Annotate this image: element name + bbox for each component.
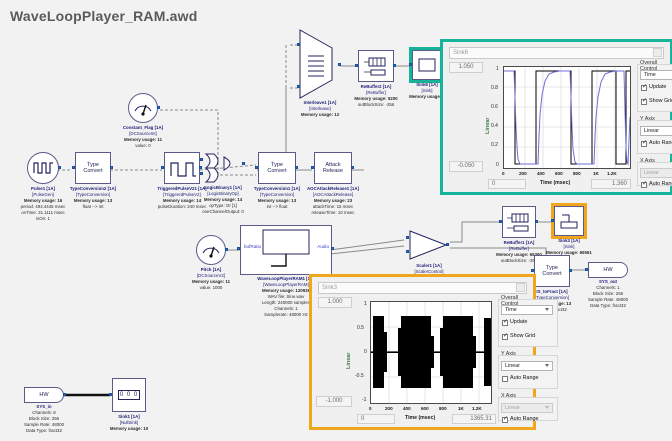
scope-sink3-y-axis-select[interactable]: Linear [501,361,553,371]
sys-out-l3: Sample Rate: 48000 [588,297,628,303]
pitch-out-port[interactable] [225,248,228,251]
type-conversion2-type: [TypeConversion] [70,192,116,198]
waveloopplayer-out-port-label: Audio [317,244,329,249]
scope-sink3-resize-grip[interactable] [516,283,525,292]
sys-in-shape: HW [24,387,64,403]
scope-sink6-y-axis-title: Y Axis [640,116,655,122]
rebuffer2-caption: ReBuffer2 [1A] [ReBuffer] Memory usage: … [354,84,397,108]
check-icon: ✓ [503,319,508,325]
logic-binary1-memory: Memory usage: 14 [202,197,244,203]
constant-flag-out-port[interactable] [157,106,160,109]
rebuffer-icon [504,208,536,238]
block-sink6[interactable]: Sink6 [1A] [Sink] Memory usage: 5 [412,50,442,80]
gauge-icon [197,236,225,264]
type-conversion2-l1: float --> int [70,204,116,210]
type-conversion1-memory: Memory usage: 13 [254,198,300,204]
type-conversion2-out-port[interactable] [110,166,113,169]
scope-sink6-xlabel: Time (msec) [540,180,570,186]
scope-sink6-ytick-5: 0 [496,162,499,168]
pitch-type: [DCSourceV2] [192,273,230,279]
chevron-down-icon [545,364,549,367]
rebuffer2-out-port[interactable] [393,64,396,67]
pulse1-l1: period: 494.4445 msec [21,204,66,210]
scope-sink3-y-auto-range-label: Auto Range [510,375,538,381]
check-icon: ✓ [642,181,647,187]
logic-binary1-l2: oneChannelOutput: 0 [202,209,244,215]
sink1-shape-label: 0 0 0 [118,390,140,400]
scope-sink6-xtick-6: 1.2K [607,171,617,176]
scope-sink3-xtick-0: 0 [369,406,372,411]
interleave1-caption: Interleave1 [1A] [Interleave] Memory usa… [301,100,339,118]
sink6-shape [412,50,442,80]
triggered-pulse-caption: TriggeredPulseV21 [1A] [TriggeredPulseV2… [157,186,206,210]
pulse-waveform-icon [28,153,58,183]
triggered-pulse-shape [164,152,200,184]
block-sys-out[interactable]: HW SYS_out Channels: 1 Block Size: 256 S… [588,262,628,278]
rebuffer2-in-port[interactable] [355,64,358,67]
type-conversion1-caption: TypeConversion1 [1A] [TypeConversion] Me… [254,186,300,210]
interleave1-in2-port[interactable] [297,85,300,88]
pitch-l1: value: 1000 [192,285,230,291]
scope-sink3-overall-control-value: Time [505,307,517,313]
block-scaler1[interactable]: Scaler1 [1A] [ScalerControl] Memory usag… [406,228,452,262]
logic-binary1-in1-port[interactable] [200,158,203,161]
rebuffer1-out-port[interactable] [535,220,538,223]
scope-sink3-title: Sink3 [322,285,337,291]
attack-release-out-port[interactable] [351,166,354,169]
scope-sink6-y-auto-range-label: Auto Range [649,140,672,146]
rebuffer1-in-port[interactable] [499,220,502,223]
sys-out-in-port[interactable] [585,268,588,271]
block-constant-flag[interactable]: Constant_Flag [1A] [DCSourceInt] Memory … [128,93,158,123]
attack-release-shape: AttackRelease [314,152,352,184]
scope-sink6-overall-control-select[interactable]: Time [640,70,672,80]
type-conversion2-in-port[interactable] [72,166,75,169]
waveloopplayer-in-port-label: bufRatio [244,244,261,249]
sink-scope-icon [413,51,441,79]
scope-sink3-xtick-3: 600 [421,406,429,411]
scope-sink6-xtick-3: 600 [555,171,563,176]
pulse1-out-port[interactable] [58,166,61,169]
checkbox-box [502,376,508,382]
scope-sink6-x-axis-value: Linear [644,170,659,176]
sink-step-icon [555,207,583,235]
scope-sink3-ytick-0: 1 [364,301,367,307]
pitch-shape [196,235,226,265]
pulse1-memory: Memory usage: 16 [21,198,66,204]
sink1-caption: Sink1 [1A] [NullSink] Memory usage: 10 [110,414,148,432]
scope-sink6-ytick-0: 1 [496,66,499,72]
type-conversion1-l1: int --> float [254,204,300,210]
rebuffer1-shape [502,206,536,238]
pulse1-shape [27,152,59,184]
constant-flag-l1: value: 0 [123,143,163,149]
block-pitch[interactable]: Pitch [1A] [DCSourceV2] Memory usage: 11… [196,235,226,265]
attack-release-l2: releaseTime: 10 msec [307,210,359,216]
scope-window-sink6[interactable]: Sink6 1.050 -0.050 0 1.360 Linear 1 0.8 … [443,42,670,192]
block-sys-in[interactable]: HW SYS_in Channels: 8 Block Size: 256 Sa… [24,387,64,403]
scope-sink3-ytick-3: -0.5 [355,373,364,379]
scope-sink6-x-axis-title: X Axis [640,158,655,164]
sink3-caption: Sink3 [1A] [Sink] Memory usage: 65561 [546,238,592,256]
scope-window-sink3[interactable]: Sink3 1.000 -1.000 0 1365.31 Linear 1 0.… [312,277,533,427]
sink1-memory: Memory usage: 10 [110,426,148,432]
block-attack-release[interactable]: AttackRelease AOCAttackRelease1 [1A] [AO… [314,152,352,184]
scope-sink6-ytick-2: 0.6 [491,104,498,110]
gauge-icon [129,94,157,122]
scope-sink3-x-axis-value: Linear [505,405,520,411]
type-conversion2-shape: TypeConvert [75,152,111,184]
scaler1-in1-port[interactable] [406,236,409,239]
pulse1-caption: Pulse1 [1A] [PulseGen] Memory usage: 16 … [21,186,66,222]
sink1-in-port[interactable] [109,393,112,396]
rebuffer2-shape [358,50,394,82]
attack-release-caption: AOCAttackRelease1 [1A] [AOCAttackRelease… [307,186,359,216]
scope-sink3-xtick-2: 400 [403,406,411,411]
attack-release-shape-label: AttackRelease [315,153,351,183]
scope-sink3-titlebar[interactable]: Sink3 [318,282,527,294]
logic-binary1-caption: LogicBinary1 [1A] [LogicBinaryOp] Memory… [202,185,244,215]
logic-binary1-in2-port[interactable] [200,172,203,175]
check-icon: ✓ [642,98,647,104]
block-pulse1[interactable]: Pulse1 [1A] [PulseGen] Memory usage: 16 … [27,152,59,184]
triggered-pulse-in-port[interactable] [161,166,164,169]
waveloopplayer-out-port[interactable] [331,247,334,250]
scope-sink6-plot-area[interactable] [503,66,631,169]
type-conversion2-shape-label: TypeConvert [76,153,110,183]
sys-in-l4: Data Type: fract32 [24,428,64,434]
block-type-conversion-out[interactable]: TypeConvert IS_toFract [1A] [TypeConvers… [534,255,570,287]
type-conversion-out-shape: TypeConvert [534,255,570,287]
type-conversion-out-in-port[interactable] [531,269,534,272]
scope-sink6-xtick-0: 0 [502,171,505,176]
scope-sink3-ytick-4: -1 [362,397,366,403]
scope-sink6-x-right-value: 1.360 [591,179,631,189]
pulse1-l2: onTime: 31.1111 msec [21,210,66,216]
scope-sink6-xtick-1: 200 [519,171,527,176]
attack-release-type: [AOCAttackRelease] [307,192,359,198]
schematic-canvas[interactable]: WaveLoopPlayer_RAM.awd [0,0,672,441]
scope-sink6-x-auto-range-label: Auto Range [649,181,672,187]
scope-sink3-xlabel: Time (msec) [405,415,435,421]
logic-or-gate-icon [200,150,246,184]
scope-sink3-show-grid-label: Show Grid [510,333,535,339]
rebuffer-icon [360,52,394,82]
scope-sink6-title: Sink6 [453,50,468,56]
waveloopplayer-shape [240,225,332,275]
sys-in-shape-label: HW [25,388,63,402]
scope-sink6-top-value: 1.050 [449,62,483,73]
scope-sink6-show-grid-label: Show Grid [649,98,672,104]
scope-sink6-update-label: Update [649,84,666,90]
scaler1-in2-port[interactable] [406,250,409,253]
waveloopplayer-in-port[interactable] [237,247,240,250]
scope-sink6-resize-grip[interactable] [653,48,662,57]
sys-in-out-port[interactable] [63,393,66,396]
scope-sink3-ytick-2: 0 [364,349,367,355]
type-conversion2-memory: Memory usage: 13 [70,198,116,204]
sys-in-l2: Block Size: 256 [24,416,64,422]
interleave-icon [298,28,342,100]
attack-release-in-port[interactable] [311,166,314,169]
scope-sink6-y-axis-select[interactable]: Linear [640,126,672,136]
constant-flag-caption: Constant_Flag [1A] [DCSourceInt] Memory … [123,125,163,149]
sys-out-caption: SYS_out Channels: 1 Block Size: 256 Samp… [588,279,628,309]
scope-sink3-x-axis-title: X Axis [501,393,516,399]
triggered-pulse-memory: Memory usage: 14 [157,198,206,204]
waveloopplayer-type: [WaveLoopPlayerRAM] [257,282,314,288]
type-conversion1-type: [TypeConversion] [254,192,300,198]
scope-sink3-overall-control-select[interactable]: Time [501,305,553,315]
scope-sink3-ylabel: Linear [346,352,352,369]
block-waveloopplayer[interactable]: bufRatio Audio WaveLoopPlayerRAM1 [1A] [… [240,225,332,275]
sink6-memory: Memory usage: 5 [409,94,445,100]
sys-out-l4: Data Type: fract32 [588,303,628,309]
waveloopplayer-memory: Memory usage: 120938 [257,288,314,294]
type-conversion1-shape-label: TypeConvert [259,153,295,183]
sink3-in-port[interactable] [551,219,554,222]
interleave1-memory: Memory usage: 12 [301,112,339,118]
waveloopplayer-l2: Length: 240000 samples [257,300,314,306]
scope-sink3-xtick-5: 1K [458,406,464,411]
scope-sink3-x-right-value: 1365.31 [452,414,496,424]
scope-sink6-ytick-3: 0.4 [491,123,498,129]
sink1-shape: 0 0 0 [112,378,146,412]
waveloopplayer-l4: Samplerate: 48000 Hz [257,312,314,318]
type-conversion1-in-port[interactable] [255,166,258,169]
check-icon: ✓ [503,416,508,422]
constant-flag-memory: Memory usage: 11 [123,137,163,143]
pitch-memory: Memory usage: 11 [192,279,230,285]
scope-sink3-xtick-1: 200 [385,406,393,411]
sink6-in-port[interactable] [409,63,412,66]
block-rebuffer1[interactable]: ReBuffer1 [1A] [ReBuffer] Memory usage: … [502,206,536,238]
block-triggered-pulse[interactable]: TriggeredPulseV21 [1A] [TriggeredPulseV2… [164,152,200,184]
scope-sink3-y-axis-value: Linear [505,363,520,369]
scope-sink3-ytick-1: 0.5 [357,325,364,331]
scope-sink3-plot-area[interactable] [370,301,492,404]
scope-sink3-top-value: 1.000 [318,297,352,308]
scope-sink6-y-axis-value: Linear [644,128,659,134]
scope-sink3-y-axis-title: Y Axis [501,351,516,357]
scope-sink6-bottom-value: -0.050 [449,161,483,172]
check-icon: ✓ [642,84,647,90]
scope-sink3-xtick-6: 1.2K [472,406,482,411]
scope-sink3-bottom-value: -1.000 [316,396,352,407]
scope-sink3-x-auto-range-label: Auto Range [510,416,538,422]
block-type-conversion2[interactable]: TypeConvert TypeConversion2 [1A] [TypeCo… [75,152,111,184]
scope-sink3-xtick-4: 800 [439,406,447,411]
scope-sink6-x-left-value: 0 [488,179,526,189]
constant-flag-shape [128,93,158,123]
interleave1-in1-port[interactable] [297,43,300,46]
type-conversion1-shape: TypeConvert [258,152,296,184]
scope-sink3-x-left-value: 0 [357,414,395,424]
sys-out-shape-label: HW [589,263,627,277]
scope-sink3-chart [371,302,491,403]
sink3-shape [554,206,584,236]
attack-release-l1: attackTime: 15 msec [307,204,359,210]
type-conversion-out-out-port[interactable] [569,269,572,272]
rebuffer2-l1: outBlockSize: -256 [354,102,397,108]
sys-out-l2: Block Size: 256 [588,291,628,297]
chevron-down-icon [545,406,549,409]
scope-sink6-titlebar[interactable]: Sink6 [449,47,664,59]
scope-sink6-xtick-2: 400 [537,171,545,176]
sys-out-shape: HW [588,262,628,278]
block-sink3[interactable]: Sink3 [1A] [Sink] Memory usage: 65561 [554,206,584,236]
check-icon: ✓ [503,333,508,339]
triggered-pulse-type: [TriggeredPulseV2] [157,192,206,198]
scope-sink6-ytick-1: 0.8 [491,85,498,91]
square-pulse-icon [166,154,200,184]
block-sink1[interactable]: 0 0 0 Sink1 [1A] [NullSink] Memory usage… [112,378,146,412]
scope-sink3-update-label: Update [510,319,527,325]
block-interleave1[interactable]: Interleave1 [1A] [Interleave] Memory usa… [298,28,342,100]
scope-sink6-ytick-4: 0.2 [491,142,498,148]
interleave1-out-port[interactable] [338,63,341,66]
waveloopplayer-caption: WaveLoopPlayerRAM1 [1A] [WaveLoopPlayerR… [257,276,314,318]
type-conversion1-out-port[interactable] [295,166,298,169]
triggered-pulse-l1: pulseDuration: 240 msec [157,204,206,210]
type-conversion2-caption: TypeConversion2 [1A] [TypeConversion] Me… [70,186,116,210]
pitch-caption: Pitch [1A] [DCSourceV2] Memory usage: 11… [192,267,230,291]
type-conversion-out-shape-label: TypeConvert [535,256,569,286]
scope-sink6-xtick-5: 1K [593,171,599,176]
block-rebuffer2[interactable]: ReBuffer2 [1A] [ReBuffer] Memory usage: … [358,50,394,82]
scope-sink3-x-axis-select[interactable]: Linear [501,403,553,413]
logic-binary1-out-port[interactable] [242,162,245,165]
block-type-conversion1[interactable]: TypeConvert TypeConversion1 [1A] [TypeCo… [258,152,296,184]
logic-binary1-type: [LogicBinaryOp] [202,191,244,197]
chevron-down-icon [545,308,549,311]
scaler1-out-port[interactable] [446,243,449,246]
pulse1-l3: isOn: 1 [21,216,66,222]
wave-loop-icon [241,226,331,274]
check-icon: ✓ [642,140,647,146]
scope-sink6-x-axis-select[interactable]: Linear [640,168,672,178]
attack-release-memory: Memory usage: 23 [307,198,359,204]
sys-in-l3: Sample Rate: 48000 [24,422,64,428]
sys-in-caption: SYS_in Channels: 8 Block Size: 256 Sampl… [24,404,64,434]
scope-sink6-overall-control-value: Time [644,72,656,78]
sink6-caption: Sink6 [1A] [Sink] Memory usage: 5 [409,82,445,100]
block-logic-binary1[interactable]: LogicBinary1 [1A] [LogicBinaryOp] Memory… [200,150,246,184]
scope-sink6-chart [504,67,630,168]
rebuffer2-memory: Memory usage: 5200 [354,96,397,102]
scope-sink6-xtick-4: 800 [573,171,581,176]
